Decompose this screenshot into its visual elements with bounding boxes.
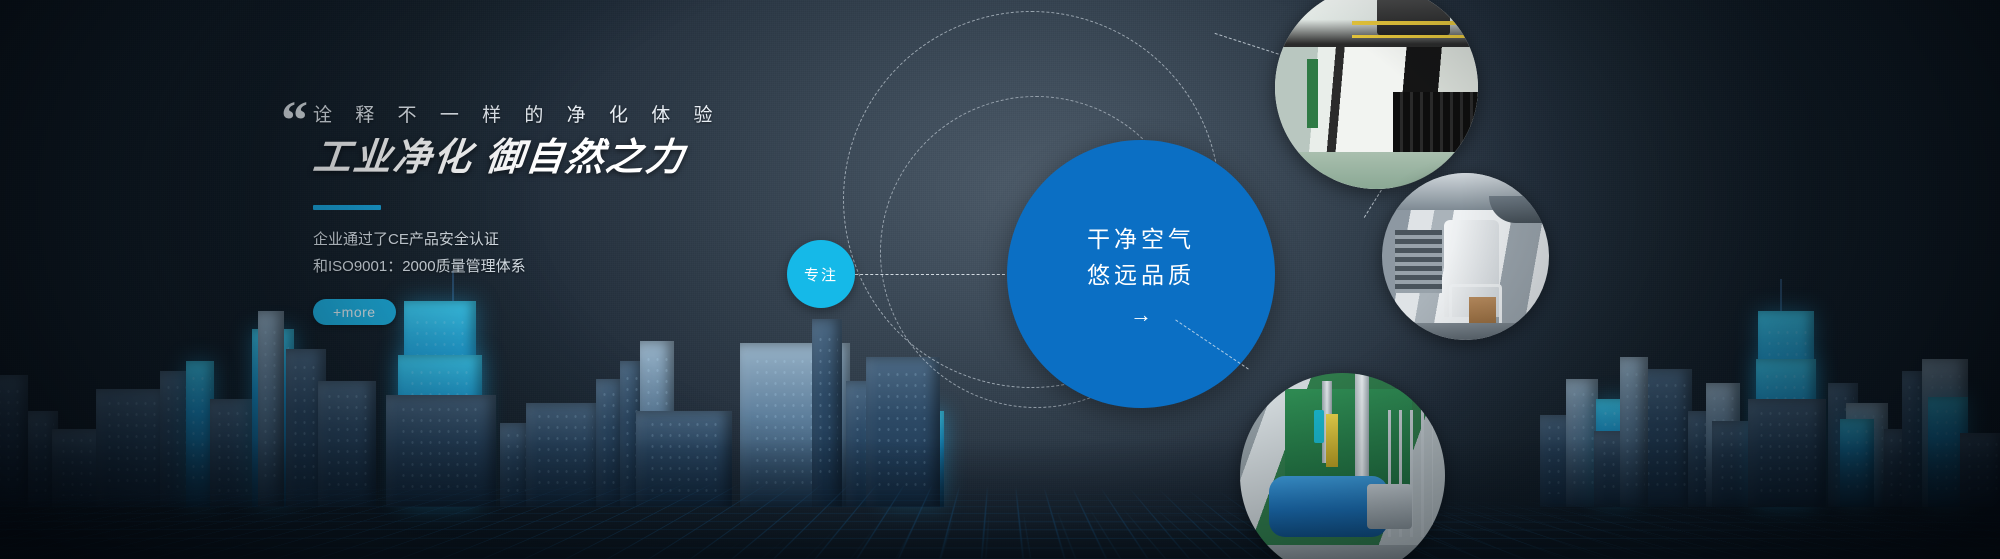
- city-skyline: [0, 259, 2000, 559]
- photo-detail-rollers: [1395, 230, 1442, 293]
- hero-banner: “ 诠 释 不 一 样 的 净 化 体 验 工业净化 御自然之力 企业通过了CE…: [0, 0, 2000, 559]
- dashed-connector-line: [850, 274, 1010, 275]
- hero-text-block: “ 诠 释 不 一 样 的 净 化 体 验 工业净化 御自然之力 企业通过了CE…: [313, 100, 873, 325]
- photo-detail-machine: [1377, 0, 1450, 35]
- photo-detail-pipe: [1355, 373, 1369, 492]
- factory-hall-photo-image: [1275, 0, 1478, 189]
- photo-detail-flange: [1367, 484, 1412, 529]
- photo-detail-floor: [1382, 323, 1549, 340]
- main-circle-line-1: 干净空气: [1087, 222, 1195, 258]
- photo-detail-yellow-valve: [1326, 414, 1338, 467]
- photo-detail-railing: [1352, 21, 1466, 25]
- hero-description-line-1: 企业通过了CE产品安全认证: [313, 226, 873, 254]
- quote-mark-icon: “: [281, 93, 306, 147]
- hero-headline: 工业净化 御自然之力: [311, 135, 876, 183]
- photo-detail-floor: [1240, 545, 1445, 559]
- hero-subtitle: 诠 释 不 一 样 的 净 化 体 验: [313, 100, 873, 127]
- textile-machinery-photo-image: [1382, 173, 1549, 340]
- photo-detail-valve: [1314, 410, 1324, 443]
- main-feature-circle[interactable]: 干净空气 悠远品质 →: [1007, 140, 1275, 408]
- factory-hall-photo[interactable]: [1275, 0, 1478, 189]
- pressure-vessel-photo-image: [1240, 373, 1445, 559]
- more-button[interactable]: +more: [313, 299, 396, 325]
- focus-badge[interactable]: 专注: [787, 240, 855, 308]
- dashed-connector-photo-1: [1215, 33, 1284, 56]
- textile-machinery-photo[interactable]: [1382, 173, 1549, 340]
- photo-detail-duct: [1489, 196, 1546, 223]
- pressure-vessel-photo[interactable]: [1240, 373, 1445, 559]
- main-circle-line-2: 悠远品质: [1087, 258, 1195, 294]
- photo-detail-railing: [1352, 35, 1466, 38]
- photo-detail-green-pipe: [1307, 59, 1317, 128]
- arrow-right-icon: →: [1130, 304, 1152, 326]
- ground-fade: [0, 439, 2000, 559]
- accent-divider: [313, 205, 381, 210]
- focus-badge-label: 专注: [804, 264, 838, 285]
